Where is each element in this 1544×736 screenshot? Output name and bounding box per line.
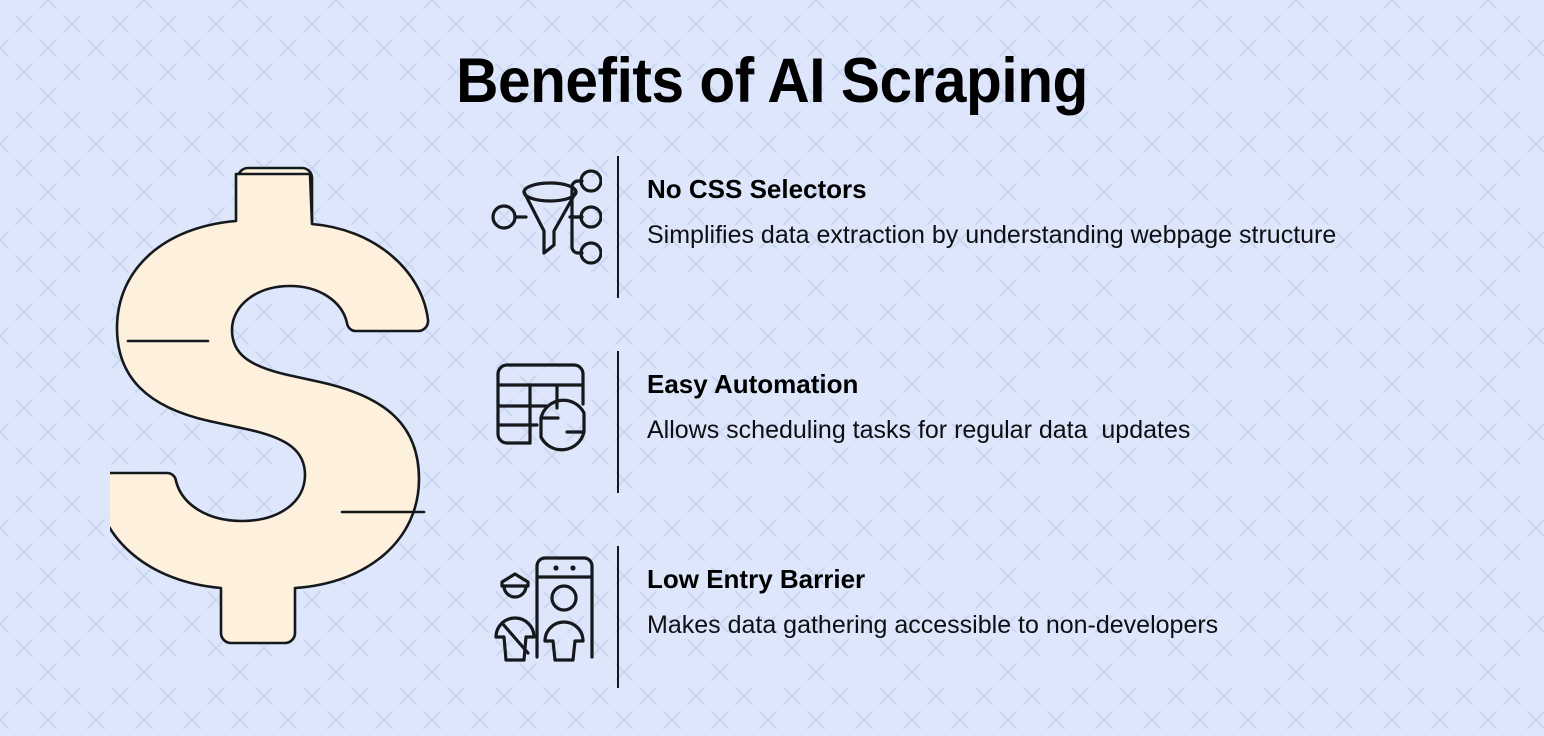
- funnel-data-nodes-icon: [490, 152, 602, 282]
- benefit-item-no-css-selectors[interactable]: No CSS Selectors Simplifies data extract…: [490, 150, 1490, 345]
- benefit-heading: Easy Automation: [647, 369, 1190, 400]
- benefit-text-block: Easy Automation Allows scheduling tasks …: [619, 345, 1190, 446]
- benefits-list: No CSS Selectors Simplifies data extract…: [490, 150, 1490, 735]
- dollar-sign-illustration: [110, 160, 440, 690]
- benefit-heading: Low Entry Barrier: [647, 564, 1218, 595]
- benefit-text-block: Low Entry Barrier Makes data gathering a…: [619, 540, 1218, 641]
- benefit-item-low-entry-barrier[interactable]: Low Entry Barrier Makes data gathering a…: [490, 540, 1490, 735]
- benefit-description: Simplifies data extraction by understand…: [647, 220, 1336, 251]
- benefit-item-easy-automation[interactable]: Easy Automation Allows scheduling tasks …: [490, 345, 1490, 540]
- benefit-description: Makes data gathering accessible to non-d…: [647, 610, 1218, 641]
- table-refresh-icon: [490, 347, 602, 477]
- benefit-text-block: No CSS Selectors Simplifies data extract…: [619, 150, 1336, 251]
- security-gate-guard-icon: [490, 542, 602, 672]
- page-title: Benefits of AI Scraping: [54, 48, 1490, 114]
- benefit-description: Allows scheduling tasks for regular data…: [647, 415, 1190, 446]
- benefit-heading: No CSS Selectors: [647, 174, 1336, 205]
